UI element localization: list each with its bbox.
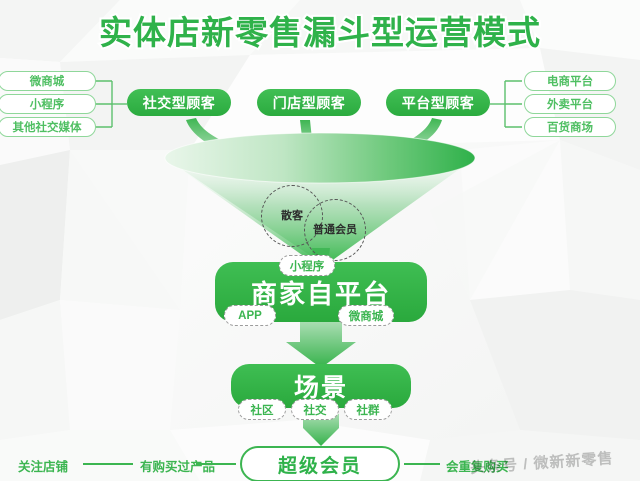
- source-pill-right-1[interactable]: 电商平台: [524, 71, 616, 91]
- scene-chip-community[interactable]: 社区: [238, 399, 286, 420]
- customer-pill-social[interactable]: 社交型顾客: [127, 89, 231, 116]
- bottom-label-purchased: 有购买过产品: [140, 456, 215, 475]
- platform-chip-weimall[interactable]: 微商城: [338, 305, 394, 326]
- customer-pill-platform[interactable]: 平台型顾客: [386, 89, 490, 116]
- arrow-platform-to-scene: [286, 322, 356, 368]
- scene-chip-social[interactable]: 社交: [291, 399, 339, 420]
- source-pill-left-3[interactable]: 其他社交媒体: [0, 117, 96, 137]
- source-pill-right-3[interactable]: 百货商场: [524, 117, 616, 137]
- scene-chip-group[interactable]: 社群: [344, 399, 392, 420]
- source-pill-left-1[interactable]: 微商城: [0, 71, 96, 91]
- bottom-label-follow-store: 关注店铺: [18, 456, 68, 475]
- left-bracket: [95, 81, 127, 127]
- platform-chip-app[interactable]: APP: [224, 305, 276, 326]
- infographic-canvas: 实体店新零售漏斗型运营模式: [0, 0, 640, 481]
- source-pill-right-2[interactable]: 外卖平台: [524, 94, 616, 114]
- right-bracket: [490, 81, 522, 127]
- super-member-pill[interactable]: 超级会员: [240, 446, 400, 481]
- source-pill-left-2[interactable]: 小程序: [0, 94, 96, 114]
- platform-chip-miniprogram[interactable]: 小程序: [279, 255, 335, 276]
- funnel-segment-member: 普通会员: [304, 199, 366, 261]
- customer-pill-store[interactable]: 门店型顾客: [257, 89, 361, 116]
